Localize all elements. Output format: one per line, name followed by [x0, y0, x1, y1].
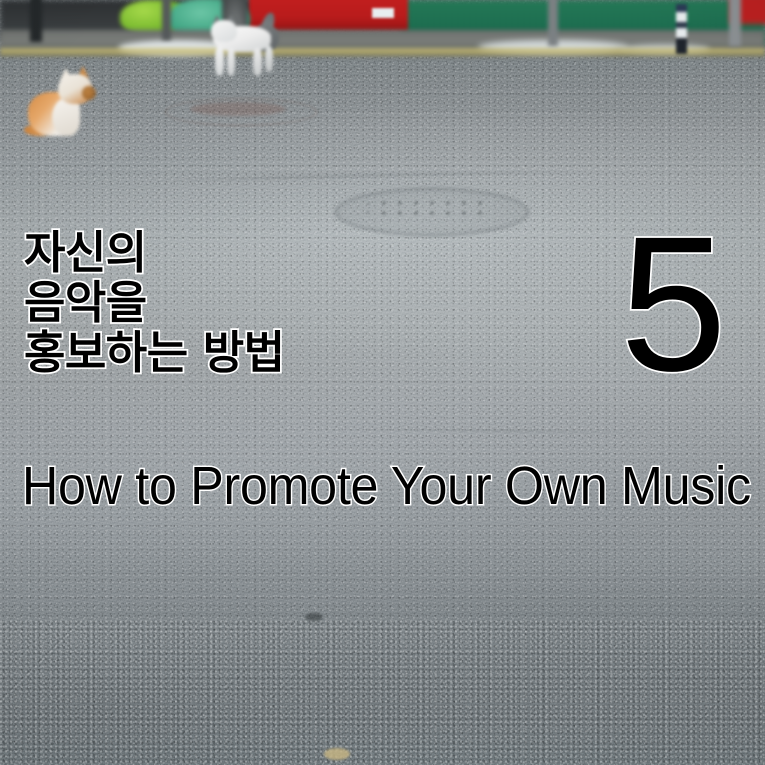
korean-title-line-1: 자신의: [24, 228, 285, 278]
korean-title-line-3: 홍보하는 방법: [24, 328, 285, 378]
korean-title-line-2: 음악을: [24, 278, 285, 328]
english-subtitle: How to Promote Your Own Music: [22, 455, 751, 517]
korean-title: 자신의 음악을 홍보하는 방법: [24, 228, 285, 378]
text-overlay: 자신의 음악을 홍보하는 방법 How to Promote Your Own …: [0, 0, 765, 765]
episode-number-badge: 5: [620, 208, 727, 400]
thumbnail-canvas: 자신의 음악을 홍보하는 방법 How to Promote Your Own …: [0, 0, 765, 765]
